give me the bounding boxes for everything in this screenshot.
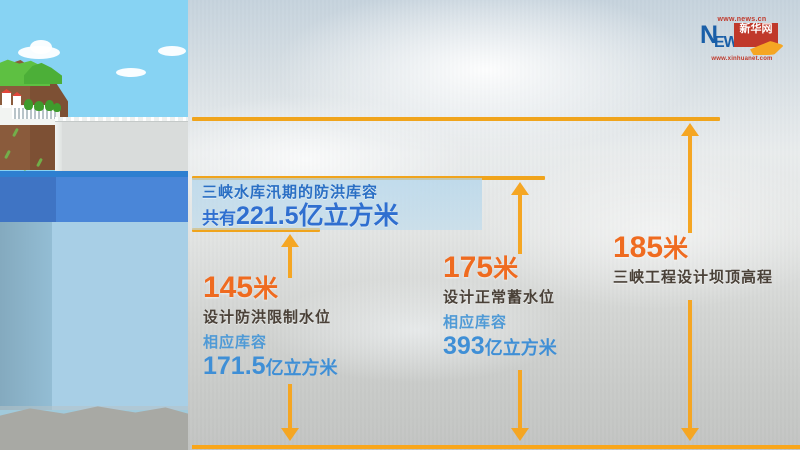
level-value-dam-crest: 185米 bbox=[613, 232, 800, 265]
level-description-flood-limit: 设计防洪限制水位 bbox=[203, 308, 423, 328]
cloud-icon bbox=[158, 46, 186, 56]
flood-capacity-banner: 三峡水库汛期的防洪库容 共有221.5亿立方米 bbox=[192, 178, 482, 230]
banner-value-number: 221.5 bbox=[236, 202, 299, 230]
cloud-icon bbox=[116, 68, 146, 77]
water-upper-layer-shadow bbox=[0, 177, 56, 222]
level-group-dam-crest: 185米 三峡工程设计坝顶高程 bbox=[613, 232, 800, 288]
tree-icon bbox=[24, 99, 33, 110]
capacity-label-normal-pool: 相应库容 bbox=[443, 313, 663, 333]
banner-title: 三峡水库汛期的防洪库容 bbox=[202, 181, 474, 202]
arrow-down-shaft-flood-limit bbox=[288, 384, 292, 428]
banner-value-line: 共有221.5亿立方米 bbox=[202, 203, 474, 232]
level-number: 175 bbox=[443, 251, 493, 284]
capacity-value-normal-pool: 393亿立方米 bbox=[443, 333, 663, 362]
level-description-normal-pool: 设计正常蓄水位 bbox=[443, 288, 663, 308]
level-unit: 米 bbox=[493, 255, 518, 283]
level-number: 145 bbox=[203, 271, 253, 304]
cloud-icon bbox=[30, 40, 52, 54]
level-description-dam-crest: 三峡工程设计坝顶高程 bbox=[613, 268, 800, 288]
arrow-down-shaft-normal-pool bbox=[518, 370, 522, 428]
level-unit: 米 bbox=[663, 235, 688, 263]
level-group-flood-limit: 145米 设计防洪限制水位 相应库容 171.5亿立方米 bbox=[203, 272, 423, 382]
level-line-dam-crest bbox=[192, 117, 720, 121]
reservoir-illustration bbox=[0, 0, 188, 450]
arrow-down-shaft-dam-crest bbox=[688, 300, 692, 428]
banner-value-suffix: 亿立方米 bbox=[299, 202, 399, 230]
level-value-flood-limit: 145米 bbox=[203, 272, 423, 305]
logo-url-bottom: www.xinhuanet.com bbox=[698, 56, 786, 62]
capacity-unit: 亿立方米 bbox=[266, 358, 338, 378]
building-icon bbox=[13, 95, 21, 108]
logo-cn-name: 新华网 bbox=[734, 23, 778, 35]
capacity-number: 171.5 bbox=[203, 352, 266, 380]
arrow-down-head-flood-limit bbox=[281, 428, 299, 441]
arrow-up-shaft-normal-pool bbox=[518, 192, 522, 254]
banner-value-prefix: 共有 bbox=[202, 209, 236, 228]
tree-icon bbox=[34, 101, 44, 111]
arrow-down-head-dam-crest bbox=[681, 428, 699, 441]
capacity-value-flood-limit: 171.5亿立方米 bbox=[203, 353, 423, 382]
arrow-down-head-normal-pool bbox=[511, 428, 529, 441]
xinhua-logo[interactable]: www.news.cn N EWS 新华网 www.xinhuanet.com bbox=[698, 16, 786, 68]
building-icon bbox=[2, 92, 11, 108]
level-unit: 米 bbox=[253, 275, 278, 303]
capacity-label-flood-limit: 相应库容 bbox=[203, 333, 423, 353]
dam-face bbox=[55, 122, 62, 173]
arrow-up-shaft-dam-crest bbox=[688, 133, 692, 233]
level-line-baseline bbox=[192, 445, 800, 449]
tree-icon bbox=[53, 103, 61, 112]
dam-wall bbox=[55, 119, 188, 173]
infographic-canvas: 三峡水库汛期的防洪库容 共有221.5亿立方米 145米 设计防洪限制水位 相应… bbox=[0, 0, 800, 450]
dam-crest-teeth bbox=[55, 117, 188, 121]
water-shadow bbox=[0, 222, 52, 410]
capacity-unit: 亿立方米 bbox=[485, 338, 557, 358]
level-number: 185 bbox=[613, 231, 663, 264]
logo-mark: N EWS 新华网 bbox=[698, 23, 786, 55]
capacity-number: 393 bbox=[443, 332, 485, 360]
